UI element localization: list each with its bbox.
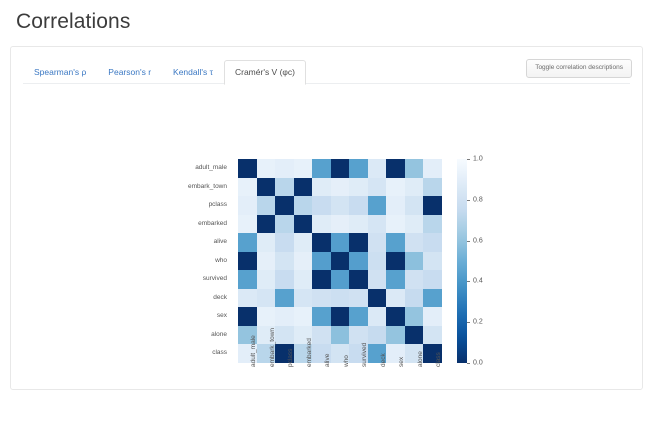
heatmap-cell — [257, 215, 276, 234]
tab-label: Pearson's r — [108, 68, 151, 77]
heatmap-cell — [386, 252, 405, 271]
heatmap-cell — [294, 307, 313, 326]
heatmap-cell — [349, 233, 368, 252]
heatmap-cell — [349, 178, 368, 197]
heatmap-cell — [257, 289, 276, 308]
heatmap-cell — [423, 326, 442, 345]
colorbar-tick-label: 0.6 — [473, 237, 483, 244]
heatmap-x-label-text: alive — [324, 354, 331, 367]
heatmap-cell — [386, 270, 405, 289]
heatmap-x-label-text: adult_male — [250, 335, 257, 367]
heatmap-cell — [423, 196, 442, 215]
heatmap-cell — [331, 307, 350, 326]
heatmap-cell — [257, 178, 276, 197]
heatmap-cell — [405, 307, 424, 326]
heatmap-cell — [386, 307, 405, 326]
tab-underline — [23, 83, 630, 84]
colorbar-tick-label: 0.0 — [473, 360, 483, 367]
heatmap-cell — [275, 159, 294, 178]
heatmap-cell — [257, 159, 276, 178]
heatmap-cell — [312, 178, 331, 197]
heatmap-y-label: alive — [214, 233, 227, 252]
tab-label: Cramér's V (φc) — [235, 68, 295, 77]
heatmap-cell — [368, 326, 387, 345]
heatmap-x-label-text: alone — [417, 351, 424, 367]
heatmap-cell — [423, 270, 442, 289]
heatmap-cell — [275, 196, 294, 215]
heatmap-cell — [238, 307, 257, 326]
heatmap-cell — [275, 326, 294, 345]
correlation-heatmap-plot: adult_maleembark_townpclassembarkedalive… — [11, 87, 642, 389]
heatmap-cell — [257, 270, 276, 289]
heatmap-cell — [238, 270, 257, 289]
colorbar-tick-label: 0.2 — [473, 319, 483, 326]
heatmap-cell — [312, 196, 331, 215]
heatmap-x-label-text: deck — [380, 353, 387, 367]
colorbar-tick-label: 1.0 — [473, 156, 483, 163]
heatmap-cell — [386, 326, 405, 345]
toggle-correlation-descriptions-button[interactable]: Toggle correlation descriptions — [526, 59, 632, 78]
heatmap-cell — [238, 196, 257, 215]
heatmap-cell — [312, 252, 331, 271]
heatmap-cell — [386, 289, 405, 308]
heatmap-cell — [368, 289, 387, 308]
heatmap-cell — [238, 289, 257, 308]
heatmap-x-label-text: survived — [361, 343, 368, 367]
heatmap-cell — [238, 252, 257, 271]
heatmap-cell — [368, 178, 387, 197]
heatmap-y-label: deck — [213, 289, 227, 308]
heatmap-cell — [368, 233, 387, 252]
heatmap-cell — [294, 196, 313, 215]
heatmap-cell — [349, 196, 368, 215]
heatmap-cell — [405, 159, 424, 178]
heatmap-x-axis-labels: adult_maleembark_townpclassembarkedalive… — [238, 365, 442, 425]
correlations-card: Spearman's ρPearson's rKendall's τCramér… — [10, 46, 643, 390]
heatmap-cell — [275, 270, 294, 289]
colorbar-tick-label: 0.8 — [473, 196, 483, 203]
heatmap-cell — [423, 233, 442, 252]
heatmap-x-label-text: sex — [398, 357, 405, 367]
heatmap-cell — [238, 178, 257, 197]
heatmap-cell — [368, 252, 387, 271]
heatmap-cell — [331, 270, 350, 289]
tab-label: Spearman's ρ — [34, 68, 86, 77]
colorbar-tick-mark — [467, 322, 470, 323]
heatmap-cell — [423, 252, 442, 271]
heatmap-cell — [294, 233, 313, 252]
heatmap-y-label: who — [215, 252, 227, 271]
heatmap-cell — [349, 159, 368, 178]
heatmap-cell — [405, 289, 424, 308]
heatmap-cell — [257, 252, 276, 271]
colorbar-tick-label: 0.4 — [473, 278, 483, 285]
heatmap-cell — [349, 326, 368, 345]
heatmap-cell — [312, 233, 331, 252]
heatmap-cell — [238, 159, 257, 178]
heatmap-cell — [423, 307, 442, 326]
heatmap-cell — [331, 178, 350, 197]
heatmap-x-label-text: class — [435, 352, 442, 367]
tab-cramers-v[interactable]: Cramér's V (φc) — [224, 60, 306, 85]
heatmap-cell — [257, 196, 276, 215]
heatmap-y-label: pclass — [209, 196, 227, 215]
heatmap-cell — [312, 326, 331, 345]
heatmap-cell — [405, 196, 424, 215]
heatmap-cell — [312, 159, 331, 178]
page-title: Correlations — [0, 0, 655, 34]
tab-pearson[interactable]: Pearson's r — [97, 60, 162, 85]
colorbar-tick-mark — [467, 200, 470, 201]
heatmap-cell — [405, 215, 424, 234]
colorbar-tick-mark — [467, 241, 470, 242]
heatmap-cell — [423, 178, 442, 197]
heatmap-y-label: embark_town — [188, 178, 227, 197]
heatmap-cell — [405, 252, 424, 271]
heatmap-cell — [331, 289, 350, 308]
heatmap-cell — [386, 215, 405, 234]
heatmap-cell — [257, 233, 276, 252]
heatmap-x-label-text: who — [343, 355, 350, 367]
heatmap-cell — [238, 215, 257, 234]
heatmap-cell — [331, 196, 350, 215]
heatmap-cell — [275, 233, 294, 252]
heatmap-cell — [312, 289, 331, 308]
heatmap-cell — [294, 178, 313, 197]
heatmap-x-label-text: embark_town — [269, 328, 276, 367]
heatmap-cell — [275, 178, 294, 197]
heatmap-cell — [294, 215, 313, 234]
heatmap-cell — [405, 326, 424, 345]
heatmap-cell — [331, 159, 350, 178]
heatmap-cell — [368, 307, 387, 326]
heatmap-y-label: adult_male — [195, 159, 227, 178]
heatmap-cell — [331, 326, 350, 345]
heatmap-cell — [349, 307, 368, 326]
heatmap-cell — [368, 196, 387, 215]
heatmap-x-label-text: embarked — [306, 338, 313, 367]
heatmap-cell — [368, 159, 387, 178]
heatmap-cell — [368, 270, 387, 289]
heatmap-cell — [386, 178, 405, 197]
heatmap-cell — [349, 270, 368, 289]
heatmap-cell — [423, 159, 442, 178]
heatmap-cell — [275, 289, 294, 308]
heatmap-cell — [405, 178, 424, 197]
heatmap-cell — [405, 233, 424, 252]
heatmap-cell — [312, 215, 331, 234]
heatmap-cell — [294, 159, 313, 178]
heatmap-cell — [294, 270, 313, 289]
card-header: Spearman's ρPearson's rKendall's τCramér… — [11, 47, 642, 89]
tab-label: Kendall's τ — [173, 68, 213, 77]
heatmap-cell — [312, 270, 331, 289]
colorbar-tick-mark — [467, 159, 470, 160]
heatmap-cell — [386, 159, 405, 178]
heatmap-cell — [275, 252, 294, 271]
correlation-tabs: Spearman's ρPearson's rKendall's τCramér… — [23, 59, 306, 85]
colorbar-tick-mark — [467, 363, 470, 364]
heatmap-cell — [331, 252, 350, 271]
heatmap-x-label-text: pclass — [287, 349, 294, 367]
tab-kendall[interactable]: Kendall's τ — [162, 60, 224, 85]
heatmap-cell — [312, 307, 331, 326]
heatmap-cell — [386, 196, 405, 215]
tab-spearman[interactable]: Spearman's ρ — [23, 60, 97, 85]
heatmap-y-label: survived — [203, 270, 227, 289]
heatmap-cell — [257, 307, 276, 326]
heatmap-cell — [349, 215, 368, 234]
heatmap-colorbar: 0.00.20.40.60.81.0 — [457, 159, 517, 365]
heatmap-y-label: embarked — [198, 215, 227, 234]
heatmap-y-label: class — [212, 344, 227, 363]
heatmap-cell — [423, 289, 442, 308]
heatmap-cell — [349, 252, 368, 271]
heatmap-cell — [294, 252, 313, 271]
colorbar-tick-mark — [467, 281, 470, 282]
colorbar-gradient — [457, 159, 467, 363]
heatmap-cell — [423, 215, 442, 234]
heatmap-cell — [331, 215, 350, 234]
heatmap-y-axis-labels: adult_maleembark_townpclassembarkedalive… — [11, 159, 233, 363]
heatmap-cell — [405, 270, 424, 289]
heatmap-y-label: alone — [211, 326, 227, 345]
heatmap-cell — [294, 289, 313, 308]
heatmap-cell — [386, 233, 405, 252]
heatmap-cell — [331, 233, 350, 252]
heatmap-y-label: sex — [217, 307, 227, 326]
heatmap-cell — [238, 233, 257, 252]
heatmap-cell — [368, 215, 387, 234]
heatmap-cell — [275, 307, 294, 326]
heatmap-cell — [275, 215, 294, 234]
heatmap-cell — [349, 289, 368, 308]
